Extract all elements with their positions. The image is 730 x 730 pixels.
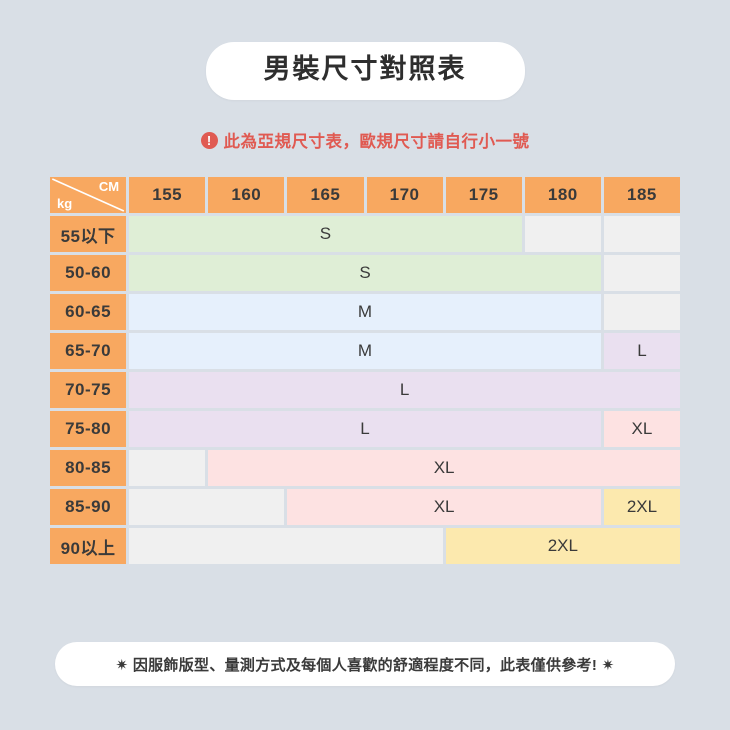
row-header-80-85: 80-85: [50, 450, 126, 486]
empty-cell: [129, 489, 284, 525]
table-row: 70-75L: [50, 372, 680, 408]
table-row: 50-60S: [50, 255, 680, 291]
row-header-75-80: 75-80: [50, 411, 126, 447]
size-cell-L: L: [129, 411, 601, 447]
row-header-55以下: 55以下: [50, 216, 126, 252]
empty-cell: [129, 450, 205, 486]
row-header-65-70: 65-70: [50, 333, 126, 369]
size-cell-L: L: [604, 333, 680, 369]
table-row: 65-70ML: [50, 333, 680, 369]
page-title: 男裝尺寸對照表: [264, 55, 467, 85]
title-banner: 男裝尺寸對照表: [0, 42, 730, 100]
warning-banner: ! 此為亞規尺寸表，歐規尺寸請自行小一號: [0, 128, 730, 152]
empty-cell: [604, 294, 680, 330]
row-header-60-65: 60-65: [50, 294, 126, 330]
row-header-70-75: 70-75: [50, 372, 126, 408]
empty-cell: [604, 255, 680, 291]
table-row: 55以下S: [50, 216, 680, 252]
size-cell-XL: XL: [604, 411, 680, 447]
table-row: 60-65M: [50, 294, 680, 330]
table-row: 90以上2XL: [50, 528, 680, 564]
table-row: 80-85XL: [50, 450, 680, 486]
size-cell-M: M: [129, 294, 601, 330]
table-header-row: CM kg 155160165170175180185: [50, 177, 680, 213]
size-cell-S: S: [129, 255, 601, 291]
footer-note-pill: ✷ 因服飾版型、量測方式及每個人喜歡的舒適程度不同，此表僅供參考! ✷: [55, 642, 675, 686]
size-chart-body: CM kg 155160165170175180185 55以下S50-60S6…: [50, 177, 680, 564]
empty-cell: [604, 216, 680, 252]
exclamation-circle-icon: !: [201, 132, 218, 149]
size-cell-S: S: [129, 216, 522, 252]
row-header-90以上: 90以上: [50, 528, 126, 564]
warning-text: 此為亞規尺寸表，歐規尺寸請自行小一號: [224, 128, 530, 152]
size-chart-table-wrapper: CM kg 155160165170175180185 55以下S50-60S6…: [47, 174, 683, 567]
size-chart-table: CM kg 155160165170175180185 55以下S50-60S6…: [47, 174, 683, 567]
empty-cell: [129, 528, 443, 564]
empty-cell: [525, 216, 601, 252]
column-header-170: 170: [367, 177, 443, 213]
column-header-185: 185: [604, 177, 680, 213]
column-header-165: 165: [287, 177, 363, 213]
column-header-155: 155: [129, 177, 205, 213]
row-header-85-90: 85-90: [50, 489, 126, 525]
title-pill: 男裝尺寸對照表: [206, 42, 525, 100]
size-cell-2XL: 2XL: [604, 489, 680, 525]
size-cell-L: L: [129, 372, 680, 408]
table-row: 75-80LXL: [50, 411, 680, 447]
corner-cm-label: CM: [99, 179, 119, 194]
column-header-175: 175: [446, 177, 522, 213]
footer-note-text: ✷ 因服飾版型、量測方式及每個人喜歡的舒適程度不同，此表僅供參考! ✷: [116, 654, 615, 675]
size-cell-M: M: [129, 333, 601, 369]
size-cell-2XL: 2XL: [446, 528, 680, 564]
column-header-160: 160: [208, 177, 284, 213]
footer-note-banner: ✷ 因服飾版型、量測方式及每個人喜歡的舒適程度不同，此表僅供參考! ✷: [55, 642, 675, 686]
column-header-180: 180: [525, 177, 601, 213]
corner-kg-label: kg: [57, 196, 72, 211]
size-cell-XL: XL: [208, 450, 680, 486]
size-cell-XL: XL: [287, 489, 601, 525]
table-row: 85-90XL2XL: [50, 489, 680, 525]
corner-header-cell: CM kg: [50, 177, 126, 213]
row-header-50-60: 50-60: [50, 255, 126, 291]
